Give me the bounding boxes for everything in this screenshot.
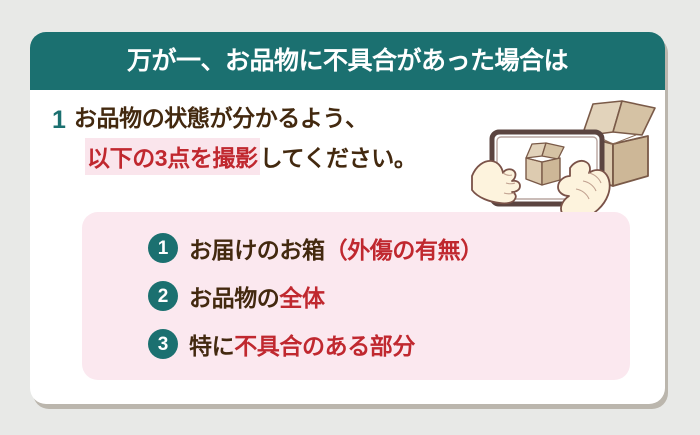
list-item-text-plain: お届けのお箱 <box>189 237 325 263</box>
photo-checklist-panel: 1 お届けのお箱（外傷の有無） 2 お品物の全体 3 特に不具合のある部分 <box>82 212 630 380</box>
list-item-text-plain: 特に <box>189 333 234 359</box>
list-item: 3 特に不具合のある部分 <box>82 320 630 368</box>
page-title: 万が一、お品物に不具合があった場合は <box>127 49 568 74</box>
tablet-screen-cardboard-box-icon <box>526 143 564 185</box>
list-item: 1 お届けのお箱（外傷の有無） <box>82 224 630 272</box>
list-item-text-plain: お品物の <box>189 285 279 311</box>
list-item-text-emphasis: （外傷の有無） <box>325 237 483 263</box>
list-item-text: お届けのお箱（外傷の有無） <box>189 231 483 265</box>
step-line-one: 1 お品物の状態が分かるよう、 <box>52 104 522 136</box>
list-item-number-badge: 3 <box>148 329 178 359</box>
list-item-text-emphasis: 全体 <box>279 285 324 311</box>
illustration-svg <box>470 90 665 222</box>
step-number: 1 <box>52 104 66 136</box>
poster-canvas: 万が一、お品物に不具合があった場合は 1 お品物の状態が分かるよう、 以下の3点… <box>0 0 700 435</box>
list-item-text-emphasis: 不具合のある部分 <box>234 333 415 359</box>
step-line-two: 以下の3点を撮影 してください。 <box>85 138 522 175</box>
list-item-number-badge: 1 <box>148 233 178 263</box>
header-band: 万が一、お品物に不具合があった場合は <box>30 32 665 90</box>
list-item-number-badge: 2 <box>148 281 178 311</box>
instruction-card: 万が一、お品物に不具合があった場合は 1 お品物の状態が分かるよう、 以下の3点… <box>30 32 665 404</box>
step-one-block: 1 お品物の状態が分かるよう、 以下の3点を撮影 してください。 <box>52 104 522 175</box>
list-item-text: お品物の全体 <box>189 279 325 313</box>
list-item-text: 特に不具合のある部分 <box>189 327 415 361</box>
step-text-line1: お品物の状態が分かるよう、 <box>74 104 368 133</box>
step-text-line2-tail: してください。 <box>260 139 417 173</box>
step-highlight-text: 以下の3点を撮影 <box>85 138 260 175</box>
tablet-photo-illustration <box>470 90 665 222</box>
list-item: 2 お品物の全体 <box>82 272 630 320</box>
